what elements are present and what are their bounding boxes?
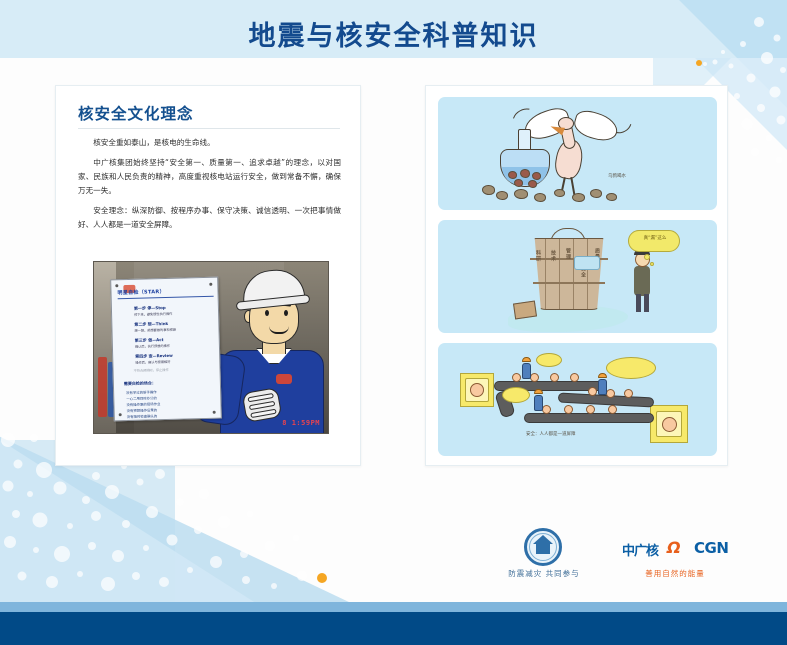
line-worker [522, 363, 531, 379]
speech-bubble [502, 387, 530, 403]
poster-step-4-desc: 操作后，确认与预期相符 [135, 359, 170, 365]
speech-bubble [536, 353, 562, 367]
product-item [624, 389, 633, 398]
poster-list-item: 一心二用同时办公的 [126, 395, 157, 401]
bucket-stave-label: 技术 [550, 250, 557, 262]
cgn-logo-mark-icon: Ω [667, 538, 679, 557]
product-item [564, 405, 573, 414]
product-face [662, 417, 677, 432]
poster-pin-icon [115, 284, 118, 287]
body-copy: 核安全重如泰山，是核电的生命线。 中广核集团始终坚持“安全第一、质量第一、追求卓… [78, 136, 341, 238]
line-worker [598, 379, 607, 395]
paragraph-1: 核安全重如泰山，是核电的生命线。 [78, 136, 341, 150]
poster-pin-icon [213, 411, 216, 414]
left-content-card: 核安全文化理念 核安全重如泰山，是核电的生命线。 中广核集团始终坚持“安全第一、… [55, 85, 361, 466]
cartoon-caption: 乌鸦喝水 [608, 173, 626, 179]
poster-list-title: 需要自检的场合： [124, 380, 156, 387]
pebble [532, 172, 541, 180]
worker-helmet-icon [598, 373, 607, 378]
poster-list-item: 没有预想操作后果的 [127, 407, 158, 413]
thought-bubble [628, 230, 680, 252]
poster-pin-icon [119, 413, 122, 416]
pebble [520, 169, 530, 178]
bucket-water-leak [574, 256, 600, 270]
bucket-hoop [533, 282, 605, 284]
logo-house-shape [536, 542, 550, 554]
pebble [482, 185, 495, 195]
thought-bubble-text: 真“漏”这么 [632, 235, 678, 241]
worker-helmet-icon [522, 357, 531, 362]
pebble [508, 171, 517, 179]
poster-title: 明星自检（STAR） [117, 287, 213, 297]
product-item [588, 387, 597, 396]
section-title: 核安全文化理念 [78, 102, 194, 124]
pebble [514, 179, 523, 187]
safety-photo: 明星自检（STAR） 第一步 停—Stop 停下来，避免惯性执行操作 第二步 想… [93, 261, 329, 434]
speech-bubble [606, 357, 656, 379]
cgn-logo-chinese: 中广核 [622, 540, 658, 559]
product-item [586, 405, 595, 414]
product-item [550, 373, 559, 382]
paragraph-3: 安全理念：纵深防御、按程序办事、保守决策、诚信透明、一次把事情做好、人人都是一道… [78, 204, 341, 232]
cea-logo-caption: 防震减灾 共同参与 [498, 568, 590, 579]
cgn-logo-caption: 善用自然的能量 [617, 568, 733, 579]
poster-step-3-desc: 确认后，执行预想的操作 [135, 343, 170, 349]
thought-dot [644, 254, 650, 260]
photo-pipe-red [98, 357, 107, 417]
product-item [542, 405, 551, 414]
pebble [534, 193, 546, 202]
observer-leg [644, 294, 649, 312]
poster-step-2-desc: 想一想，预想要做的事和预期 [134, 327, 176, 333]
poster-pin-icon [209, 283, 212, 286]
earthquake-administration-logo [524, 528, 562, 566]
observer-leg [636, 294, 641, 312]
accent-dot-bottom [317, 573, 327, 583]
line-worker [534, 395, 543, 411]
pebble [572, 193, 585, 202]
cgn-logo-english: CGN [694, 539, 728, 557]
right-illustration-card: 乌鸦喝水 科研 技术 管理 安全 质量 [425, 85, 728, 466]
poster-list-item: 没有学过的新手操作 [126, 389, 157, 395]
worker-helmet-icon [534, 389, 543, 394]
cartoon-panel-assembly-line: 安全：人人都是一道屏障 [438, 343, 717, 456]
footer-navy-bar [0, 612, 787, 645]
cartoon-caption: 安全：人人都是一道屏障 [526, 431, 576, 437]
product-item [530, 373, 539, 382]
pebble [528, 180, 537, 188]
poster-divider [118, 296, 214, 299]
title-divider [78, 128, 340, 129]
pebble [514, 189, 528, 199]
product-item [608, 405, 617, 414]
poster-list-item: 没有操作票的现场作业 [126, 401, 160, 407]
worker-eye-left [265, 310, 269, 316]
poster-list-item: 没有随时检查确认的 [127, 413, 158, 419]
star-self-check-poster: 明星自检（STAR） 第一步 停—Stop 停下来，避免惯性执行操作 第二步 想… [110, 277, 222, 422]
cgn-logo: 中广核 Ω CGN [622, 538, 728, 560]
poster-page: 地震与核安全科普知识 [0, 0, 787, 645]
observer-body [634, 266, 650, 296]
poster-step-1-desc: 停下来，避免惯性执行操作 [134, 311, 172, 317]
pebble [554, 189, 565, 197]
paragraph-2: 中广核集团始终坚持“安全第一、质量第一、追求卓越”的理念，以对国家、民族和人民负… [78, 156, 341, 198]
worker-eye-right [284, 310, 288, 316]
bucket-stave-label: 管理 [565, 248, 572, 260]
product-face [470, 383, 484, 397]
product-item [512, 373, 521, 382]
accent-dot [696, 60, 702, 66]
conveyor-belt-bottom [524, 413, 654, 423]
product-item [570, 373, 579, 382]
poster-note: 不符合预期时，停止操作 [133, 367, 168, 373]
photo-timestamp: 8 1:59PM [282, 419, 320, 427]
pebble [606, 193, 617, 201]
bucket-stave-label: 科研 [535, 250, 542, 262]
page-title: 地震与核安全科普知识 [0, 14, 787, 53]
cartoon-panel-crow-drinking-water: 乌鸦喝水 [438, 97, 717, 210]
thought-dot [650, 262, 654, 266]
product-item [606, 389, 615, 398]
fallen-plank [513, 301, 537, 320]
pebble [496, 191, 508, 200]
footer-light-bar [0, 602, 787, 612]
cartoon-panel-barrel-theory: 科研 技术 管理 安全 质量 真“漏”这么 [438, 220, 717, 333]
pebble [590, 189, 602, 198]
worker-uniform-logo [276, 374, 292, 384]
